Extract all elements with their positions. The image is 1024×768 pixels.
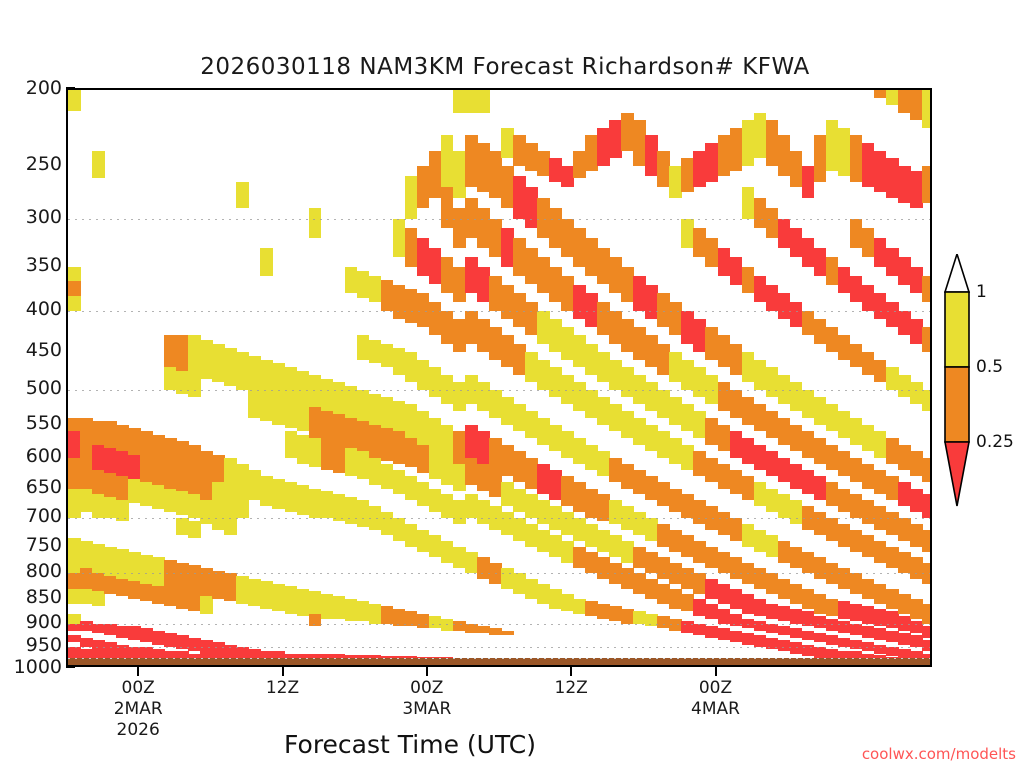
heatmap-cell <box>309 208 322 238</box>
heatmap-cell <box>718 628 731 640</box>
heatmap-cell <box>236 576 249 604</box>
heatmap-cell <box>693 411 706 438</box>
heatmap-cell <box>116 451 129 476</box>
heatmap-cell <box>417 411 430 445</box>
heatmap-cell <box>429 302 442 335</box>
heatmap-cell <box>405 228 418 267</box>
heatmap-cell <box>742 352 755 383</box>
heatmap-cell <box>657 390 670 418</box>
y-axis-label: 1000 <box>14 656 62 678</box>
heatmap-cell <box>874 609 887 626</box>
heatmap-cell <box>850 604 863 621</box>
heatmap-cell <box>693 367 706 397</box>
heatmap-cell <box>501 128 514 158</box>
heatmap-cell <box>778 458 791 482</box>
y-axis-label: 650 <box>26 476 62 498</box>
heatmap-cell <box>790 425 803 452</box>
heatmap-cell <box>68 458 81 488</box>
heatmap-cell <box>898 633 911 645</box>
heatmap-cell <box>369 604 382 624</box>
chart-canvas: 2026030118 NAM3KM Forecast Richardson# K… <box>0 0 1024 768</box>
heatmap-cell <box>850 344 863 368</box>
heatmap-cell <box>441 619 454 631</box>
heatmap-cell <box>80 638 93 647</box>
heatmap-cell <box>140 555 153 584</box>
heatmap-cell <box>633 470 646 494</box>
heatmap-cell <box>128 428 141 455</box>
heatmap-cell <box>429 489 442 513</box>
heatmap-cell <box>814 319 827 344</box>
heatmap-cell <box>778 375 791 404</box>
heatmap-cell <box>898 311 911 336</box>
y-axis-label: 550 <box>26 412 62 434</box>
heatmap-cell <box>802 431 815 458</box>
heatmap-cell <box>152 631 165 645</box>
heatmap-cell <box>838 128 851 176</box>
heatmap-cell <box>104 547 117 576</box>
heatmap-cell <box>561 512 574 535</box>
heatmap-cell <box>140 431 153 458</box>
heatmap-cell <box>766 604 779 619</box>
heatmap-cell <box>453 464 466 491</box>
x-axis-title: Forecast Time (UTC) <box>0 730 820 759</box>
heatmap-cell <box>862 535 875 557</box>
heatmap-cell <box>333 414 346 444</box>
heatmap-cell <box>489 219 502 258</box>
heatmap-cell <box>573 482 586 512</box>
heatmap-cell <box>68 296 81 311</box>
heatmap-cell <box>766 367 779 397</box>
heatmap-cell <box>597 352 610 383</box>
heatmap-cell <box>453 319 466 352</box>
heatmap-cell <box>766 535 779 557</box>
heatmap-cell <box>886 611 899 628</box>
heatmap-cell <box>669 619 682 631</box>
heatmap-cell <box>128 626 141 640</box>
heatmap-cell <box>597 128 610 166</box>
heatmap-cell <box>453 547 466 569</box>
heatmap-cell <box>730 557 743 578</box>
heatmap-cell <box>513 404 526 431</box>
heatmap-cell <box>645 552 658 574</box>
heatmap-cell <box>405 289 418 323</box>
heatmap-cell <box>790 302 803 327</box>
heatmap-cell <box>910 88 923 120</box>
heatmap-cell <box>922 390 932 411</box>
heatmap-cell <box>621 411 634 438</box>
heatmap-cell <box>80 589 93 604</box>
heatmap-cell <box>645 614 658 626</box>
heatmap-cell <box>718 464 731 488</box>
heatmap-cell <box>381 428 394 461</box>
heatmap-cell <box>838 601 851 618</box>
heatmap-cell <box>778 418 791 445</box>
heatmap-cell <box>874 431 887 458</box>
heatmap-cell <box>513 176 526 218</box>
heatmap-cell <box>537 418 550 445</box>
heatmap-cell <box>633 418 646 445</box>
heatmap-cell <box>718 425 731 452</box>
heatmap-cell <box>489 506 502 529</box>
heatmap-cell <box>369 506 382 529</box>
heatmap-cell <box>718 135 731 176</box>
heatmap-cell <box>152 557 165 586</box>
y-axis-label: 850 <box>26 586 62 608</box>
heatmap-cell <box>465 88 478 113</box>
heatmap-cell <box>826 445 839 470</box>
heatmap-cell <box>345 418 358 452</box>
y-axis-label: 950 <box>26 634 62 656</box>
heatmap-cell <box>369 340 382 364</box>
heatmap-cell <box>465 425 478 458</box>
heatmap-cell <box>754 404 767 431</box>
heatmap-cell <box>297 371 310 407</box>
heatmap-cell <box>874 645 887 654</box>
heatmap-cell <box>561 594 574 611</box>
heatmap-cell <box>850 276 863 302</box>
heatmap-cell <box>573 228 586 267</box>
heatmap-cell <box>465 257 478 293</box>
heatmap-cell <box>513 518 526 541</box>
heatmap-cell <box>188 521 201 538</box>
heatmap-cell <box>405 524 418 547</box>
heatmap-cell <box>489 327 502 359</box>
heatmap-cell <box>730 589 743 609</box>
heatmap-cell <box>814 476 827 500</box>
heatmap-cell <box>477 464 490 491</box>
heatmap-cell <box>705 506 718 529</box>
heatmap-cell <box>730 614 743 626</box>
heatmap-cell <box>609 120 622 158</box>
heatmap-cell <box>369 276 382 302</box>
heatmap-cell <box>874 506 887 529</box>
heatmap-cell <box>357 451 370 479</box>
heatmap-cell <box>657 482 670 506</box>
heatmap-cell <box>537 464 550 494</box>
x-axis-tick <box>137 667 139 676</box>
heatmap-cell <box>778 640 791 651</box>
heatmap-cell <box>68 431 81 458</box>
heatmap-cell <box>657 293 670 327</box>
heatmap-cell <box>104 421 117 448</box>
heatmap-cell <box>549 425 562 452</box>
heatmap-cell <box>297 404 310 431</box>
heatmap-cell <box>874 584 887 604</box>
heatmap-cell <box>513 293 526 327</box>
heatmap-cell <box>802 470 815 494</box>
heatmap-cell <box>224 489 237 513</box>
heatmap-cell <box>681 158 694 192</box>
heatmap-cell <box>200 500 213 524</box>
heatmap-cell <box>92 573 105 591</box>
heatmap-cell <box>68 552 81 574</box>
heatmap-cell <box>826 619 839 631</box>
heatmap-cell <box>561 276 574 311</box>
heatmap-cell <box>910 319 923 344</box>
x-axis-label: 00Z4MAR <box>691 678 740 720</box>
heatmap-cell <box>260 581 273 609</box>
heatmap-cell <box>465 458 478 485</box>
heatmap-cell <box>453 500 466 524</box>
heatmap-cell <box>477 382 490 410</box>
heatmap-cell <box>657 557 670 578</box>
heatmap-cell <box>802 311 815 336</box>
heatmap-cell <box>910 635 923 647</box>
heatmap-cell <box>862 425 875 452</box>
heatmap-cell <box>826 482 839 506</box>
heatmap-cell <box>309 375 322 411</box>
y-axis-label: 300 <box>26 206 62 228</box>
heatmap-cell <box>513 451 526 482</box>
heatmap-cell <box>886 367 899 390</box>
heatmap-cell <box>597 530 610 552</box>
heatmap-cell <box>68 267 81 281</box>
heatmap-cell <box>176 635 189 649</box>
heatmap-cell <box>742 524 755 547</box>
heatmap-cell <box>886 631 899 643</box>
heatmap-cell <box>814 248 827 276</box>
heatmap-cell <box>68 624 81 631</box>
heatmap-cell <box>874 541 887 563</box>
heatmap-cell <box>597 557 610 578</box>
heatmap-cell <box>513 573 526 593</box>
heatmap-cell <box>429 616 442 628</box>
heatmap-cell <box>886 438 899 464</box>
heatmap-cell <box>453 151 466 198</box>
heatmap-cell <box>68 635 81 642</box>
heatmap-cell <box>730 431 743 458</box>
heatmap-cell <box>525 352 538 383</box>
heatmap-cell <box>705 238 718 267</box>
heatmap-cell <box>922 88 932 128</box>
x-axis-tick <box>426 667 428 676</box>
heatmap-cell <box>681 360 694 391</box>
heatmap-cell <box>417 293 430 327</box>
heatmap-cell <box>68 589 81 604</box>
heatmap-cell <box>200 596 213 613</box>
heatmap-cell <box>754 276 767 302</box>
heatmap-cell <box>718 382 731 410</box>
heatmap-cell <box>585 445 598 470</box>
heatmap-cell <box>429 367 442 397</box>
heatmap-cell <box>297 589 310 617</box>
heatmap-cell <box>176 335 189 371</box>
heatmap-cell <box>80 621 93 630</box>
heatmap-cell <box>862 500 875 524</box>
heatmap-cell <box>766 451 779 476</box>
heatmap-cell <box>381 464 394 488</box>
heatmap-cell <box>381 512 394 535</box>
heatmap-cell <box>802 238 815 267</box>
heatmap-cell <box>393 518 406 541</box>
heatmap-cell <box>188 335 201 374</box>
heatmap-cell <box>681 621 694 633</box>
heatmap-cell <box>489 470 502 497</box>
heatmap-cell <box>573 599 586 614</box>
heatmap-cell <box>224 645 237 658</box>
heatmap-cell <box>549 208 562 248</box>
heatmap-cell <box>80 568 93 589</box>
heatmap-cell <box>681 568 694 589</box>
heatmap-cell <box>272 363 285 400</box>
heatmap-cell <box>561 166 574 187</box>
heatmap-cell <box>321 441 334 470</box>
heatmap-cell <box>585 489 598 519</box>
heatmap-cell <box>778 606 791 621</box>
heatmap-cell <box>525 302 538 335</box>
heatmap-cell <box>128 552 141 581</box>
heatmap-cell <box>561 219 574 258</box>
heatmap-cell <box>898 482 911 506</box>
heatmap-cell <box>525 524 538 547</box>
heatmap-cell <box>68 538 81 552</box>
heatmap-cell <box>922 494 932 518</box>
heatmap-cell <box>501 166 514 208</box>
heatmap-cell <box>850 135 863 181</box>
heatmap-cell <box>790 151 803 187</box>
heatmap-cell <box>465 375 478 404</box>
heatmap-cell <box>489 438 502 470</box>
heatmap-cell <box>669 589 682 609</box>
heatmap-cell <box>537 360 550 391</box>
heatmap-cell <box>549 589 562 609</box>
heatmap-cell <box>453 431 466 464</box>
heatmap-cell <box>609 404 622 431</box>
heatmap-cell <box>754 621 767 630</box>
heatmap-cell <box>417 166 430 208</box>
heatmap-cell <box>200 568 213 596</box>
heatmap-cell <box>730 390 743 418</box>
heatmap-cell <box>838 489 851 513</box>
heatmap-cell <box>585 552 598 574</box>
heatmap-cell <box>248 390 261 418</box>
colorbar-cap-bottom <box>945 442 969 506</box>
heatmap-cell <box>188 445 201 470</box>
heatmap-cell <box>645 285 658 320</box>
heatmap-cell <box>790 228 803 257</box>
heatmap-cell <box>886 248 899 276</box>
heatmap-cell <box>754 198 767 229</box>
heatmap-cell <box>754 635 767 647</box>
heatmap-cell <box>766 208 779 238</box>
heatmap-cell <box>345 386 358 421</box>
heatmap-cell <box>453 88 466 113</box>
heatmap-cell <box>104 448 117 473</box>
heatmap-cell <box>92 445 105 470</box>
heatmap-cell <box>80 418 93 432</box>
heatmap-cell <box>128 479 141 503</box>
heatmap-cell <box>597 397 610 425</box>
heatmap-cell <box>742 619 755 629</box>
heatmap-cell <box>850 418 863 445</box>
heatmap-cell <box>693 500 706 524</box>
heatmap-cell <box>886 158 899 197</box>
heatmap-cell <box>850 219 863 248</box>
heatmap-cell <box>778 541 791 563</box>
heatmap-cell <box>393 285 406 320</box>
heatmap-cell <box>645 425 658 452</box>
heatmap-cell <box>248 470 261 500</box>
heatmap-cell <box>297 435 310 464</box>
heatmap-cell <box>236 182 249 209</box>
heatmap-cell <box>333 494 346 521</box>
heatmap-cell <box>742 120 755 165</box>
heatmap-cell <box>826 120 839 171</box>
heatmap-cell <box>128 455 141 480</box>
heatmap-cell <box>705 458 718 482</box>
heatmap-cell <box>200 476 213 500</box>
heatmap-cell <box>910 489 923 513</box>
heatmap-cell <box>693 319 706 352</box>
heatmap-cell <box>585 390 598 418</box>
heatmap-cell <box>381 344 394 368</box>
heatmap-cell <box>188 594 201 611</box>
heatmap-cell <box>681 404 694 431</box>
heatmap-cell <box>766 411 779 438</box>
heatmap-cell <box>501 568 514 589</box>
heatmap-cell <box>910 524 923 547</box>
terrain-top-dots <box>68 658 930 659</box>
x-axis-label: 00Z3MAR <box>402 678 451 720</box>
heatmap-cell <box>898 257 911 284</box>
heatmap-cell <box>597 494 610 521</box>
heatmap-cell <box>609 606 622 621</box>
heatmap-cell <box>669 530 682 552</box>
heatmap-cell <box>104 624 117 636</box>
heatmap-cell <box>718 584 731 604</box>
heatmap-cell <box>176 441 189 467</box>
heatmap-cell <box>826 563 839 584</box>
heatmap-cell <box>188 375 201 397</box>
heatmap-cell <box>224 512 237 535</box>
heatmap-cell <box>814 594 827 614</box>
heatmap-cell <box>669 352 682 383</box>
heatmap-cell <box>272 479 285 509</box>
heatmap-cell <box>501 335 514 367</box>
heatmap-cell <box>802 645 815 656</box>
heatmap-cell <box>393 431 406 464</box>
heatmap-cell <box>104 497 117 518</box>
heatmap-cell <box>477 431 490 464</box>
heatmap-cell <box>802 552 815 574</box>
heatmap-cell <box>838 451 851 476</box>
heatmap-cell <box>922 327 932 352</box>
heatmap-cell <box>790 609 803 624</box>
heatmap-cell <box>742 187 755 219</box>
heatmap-cell <box>453 621 466 630</box>
heatmap-cell <box>573 151 586 179</box>
heatmap-cell <box>790 584 803 604</box>
heatmap-cell <box>657 524 670 547</box>
heatmap-cell <box>489 276 502 311</box>
heatmap-cell <box>705 547 718 569</box>
heatmap-cell <box>561 541 574 563</box>
heatmap-cell <box>886 302 899 327</box>
y-axis-labels: 2002503003504004505005506006507007508008… <box>0 88 62 667</box>
heatmap-cell <box>633 120 646 165</box>
heatmap-cell <box>766 285 779 311</box>
heatmap-cell <box>272 397 285 425</box>
heatmap-cell <box>862 626 875 638</box>
heatmap-cell <box>152 435 165 461</box>
heatmap-cell <box>525 458 538 488</box>
heatmap-cell <box>669 489 682 513</box>
heatmap-cell <box>693 541 706 563</box>
heatmap-cell <box>393 609 406 626</box>
heatmap-cell <box>705 604 718 619</box>
heatmap-cell <box>922 640 932 651</box>
heatmap-cell <box>321 379 334 415</box>
